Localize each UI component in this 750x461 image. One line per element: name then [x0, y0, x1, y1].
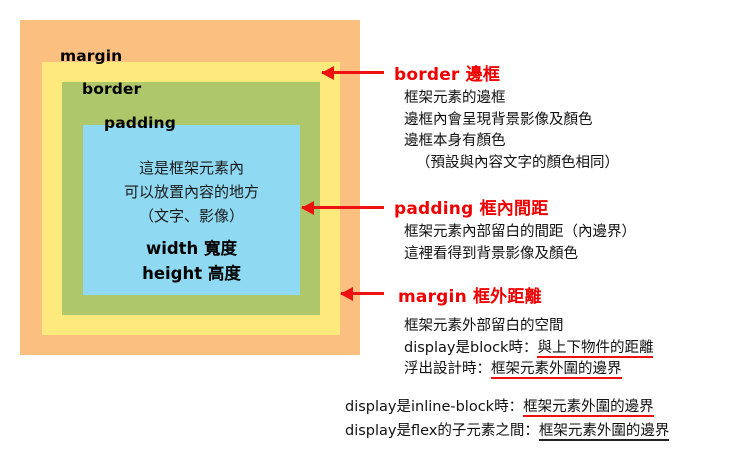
- margin-rule-block-value: 與上下物件的距離: [537, 340, 653, 358]
- margin-rule-flex-prefix: display是flex的子元素之間：: [345, 423, 539, 439]
- border-body-line-2: 邊框內會呈現背景影像及顏色: [404, 110, 619, 132]
- margin-rule-block-prefix: display是block時：: [404, 340, 537, 356]
- margin-callout-arrow-icon: [341, 292, 384, 295]
- margin-extra-rules: display是inline-block時：框架元素外圍的邊界 display是…: [345, 395, 669, 443]
- border-layer-label: border: [82, 80, 141, 98]
- margin-body-line-1: 框架元素外部留白的空間: [404, 316, 653, 338]
- padding-callout-arrow-icon: [302, 206, 384, 209]
- content-line-2: 可以放置內容的地方: [83, 180, 300, 204]
- padding-body-line-2: 這裡看得到背景影像及顏色: [404, 244, 636, 266]
- border-section-title: border 邊框: [394, 60, 500, 85]
- margin-section-body: 框架元素外部留白的空間 display是block時：與上下物件的距離 浮出設計…: [404, 316, 653, 381]
- content-area-text: 這是框架元素內 可以放置內容的地方 （文字、影像） width 寬度 heigh…: [83, 156, 300, 286]
- margin-rule-inline-value: 框架元素外圍的邊界: [523, 399, 654, 417]
- margin-rule-flex: display是flex的子元素之間：框架元素外圍的邊界: [345, 419, 669, 443]
- content-height-label: height 高度: [83, 261, 300, 286]
- content-line-1: 這是框架元素內: [83, 156, 300, 180]
- padding-layer-label: padding: [104, 114, 176, 132]
- padding-body-line-1: 框架元素內部留白的間距（內邊界）: [404, 222, 636, 244]
- content-line-3: （文字、影像）: [83, 204, 300, 228]
- padding-section-title: padding 框內間距: [394, 194, 548, 219]
- border-body-line-4: （預設與內容文字的顏色相同）: [404, 153, 619, 175]
- margin-rule-inline-prefix: display是inline-block時：: [345, 399, 523, 415]
- box-model-diagram: margin border padding 這是框架元素內 可以放置內容的地方 …: [20, 20, 360, 355]
- margin-rule-block: display是block時：與上下物件的距離: [404, 338, 653, 360]
- content-width-label: width 寬度: [83, 236, 300, 261]
- margin-rule-float-prefix: 浮出設計時：: [404, 361, 491, 377]
- border-body-line-1: 框架元素的邊框: [404, 88, 619, 110]
- border-body-line-3: 邊框本身有顏色: [404, 131, 619, 153]
- margin-rule-float-value: 框架元素外圍的邊界: [491, 361, 622, 379]
- explanation-panel: border 邊框 框架元素的邊框 邊框內會呈現背景影像及顏色 邊框本身有顏色 …: [388, 0, 750, 461]
- margin-rule-flex-value: 框架元素外圍的邊界: [539, 423, 670, 441]
- margin-rule-float: 浮出設計時：框架元素外圍的邊界: [404, 359, 653, 381]
- border-section-body: 框架元素的邊框 邊框內會呈現背景影像及顏色 邊框本身有顏色 （預設與內容文字的顏…: [404, 88, 619, 174]
- border-callout-arrow-icon: [322, 71, 384, 74]
- padding-section-body: 框架元素內部留白的間距（內邊界） 這裡看得到背景影像及顏色: [404, 222, 636, 265]
- margin-rule-inline: display是inline-block時：框架元素外圍的邊界: [345, 395, 669, 419]
- margin-layer-label: margin: [60, 47, 122, 65]
- margin-section-title: margin 框外距離: [398, 282, 542, 307]
